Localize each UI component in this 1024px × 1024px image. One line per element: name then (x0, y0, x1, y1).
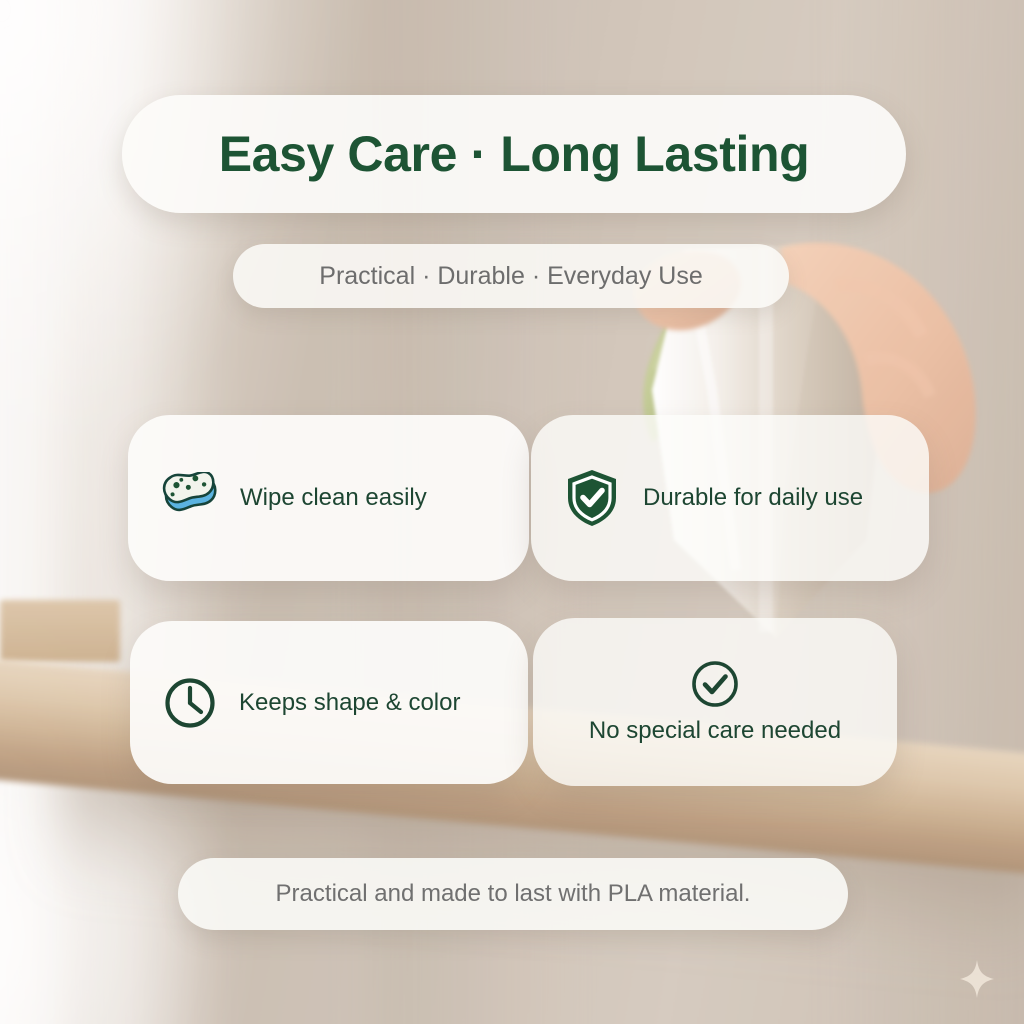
feature-card-keeps-shape[interactable]: Keeps shape & color (130, 621, 528, 784)
feature-label: No special care needed (589, 717, 841, 745)
clock-icon (163, 676, 217, 730)
subtitle-pill: Practical · Durable · Everyday Use (233, 244, 789, 308)
sparkle-icon (960, 960, 994, 998)
footer-caption: Practical and made to last with PLA mate… (276, 880, 751, 908)
sponge-icon (162, 472, 220, 524)
feature-label: Durable for daily use (643, 484, 863, 512)
feature-card-no-special-care[interactable]: No special care needed (533, 618, 897, 786)
feature-label: Wipe clean easily (240, 484, 427, 512)
page-title: Easy Care · Long Lasting (219, 125, 810, 183)
infographic-canvas: Easy Care · Long Lasting Practical · Dur… (0, 0, 1024, 1024)
overlay-ui: Easy Care · Long Lasting Practical · Dur… (0, 0, 1024, 1024)
shield-check-icon (565, 468, 619, 528)
feature-card-durable[interactable]: Durable for daily use (531, 415, 929, 581)
footer-pill: Practical and made to last with PLA mate… (178, 858, 848, 930)
check-circle-icon (690, 659, 740, 709)
feature-label: Keeps shape & color (239, 689, 460, 717)
title-pill: Easy Care · Long Lasting (122, 95, 906, 213)
feature-card-wipe-clean[interactable]: Wipe clean easily (128, 415, 529, 581)
subtitle: Practical · Durable · Everyday Use (319, 262, 702, 291)
